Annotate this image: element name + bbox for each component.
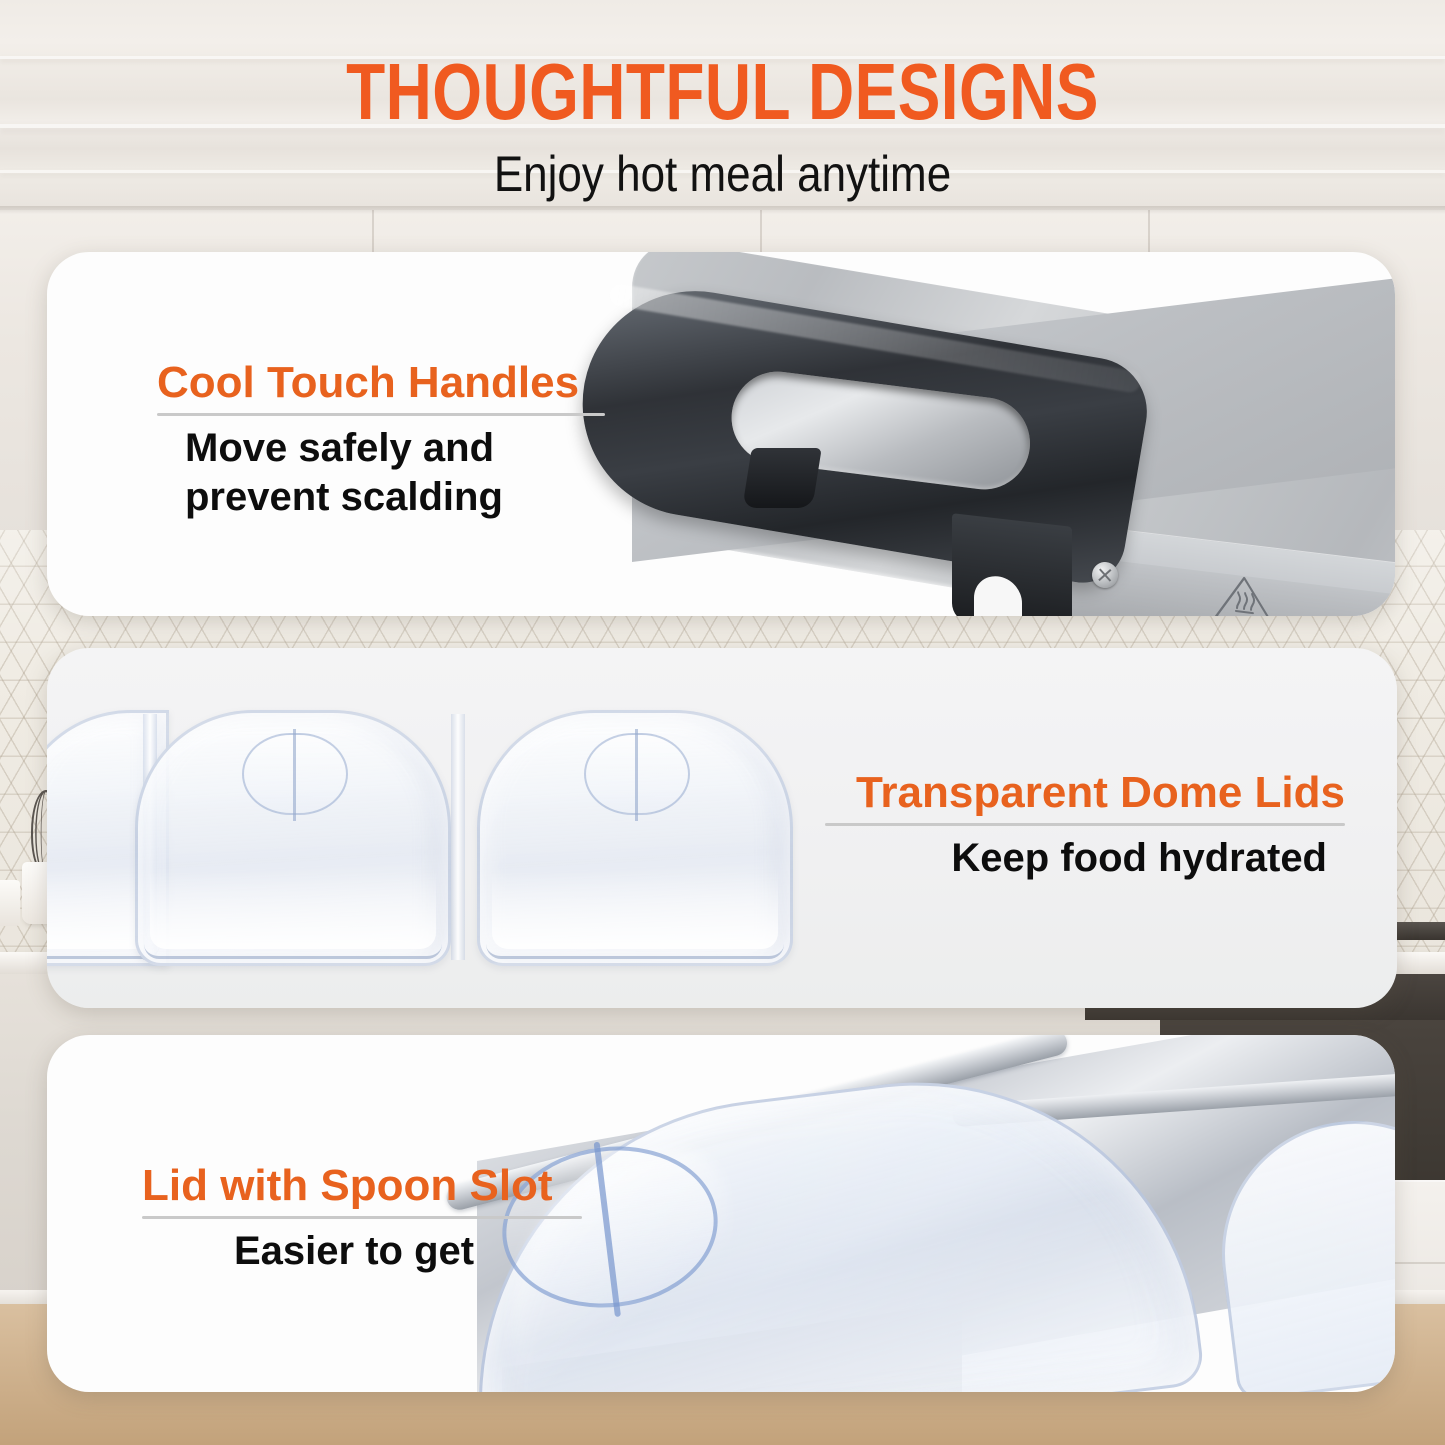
feature-panel-lid-with-spoon-slot[interactable]: Lid with Spoon Slot Easier to get	[47, 1035, 1395, 1392]
feature-panel-cool-touch-handles[interactable]: CAUTION:HOT SURFACE Cool Touch Handles M…	[47, 252, 1395, 616]
panel-1-divider	[157, 413, 605, 416]
dome-lid-center	[135, 710, 451, 966]
dome-lid-edge	[486, 944, 784, 959]
panel-3-text-block: Lid with Spoon Slot Easier to get	[142, 1163, 612, 1276]
panel-1-description-line2: prevent scalding	[157, 473, 627, 522]
dome-lid-grip	[242, 733, 348, 815]
dome-lid-seam	[451, 714, 465, 960]
cabinet-shadow	[0, 206, 1445, 214]
feature-panel-transparent-dome-lids[interactable]: Transparent Dome Lids Keep food hydrated	[47, 648, 1397, 1008]
panel-3-divider	[142, 1216, 582, 1219]
page-title: THOUGHTFUL DESIGNS	[145, 0, 1301, 132]
dome-lid-grip	[584, 733, 690, 815]
product-feature-infographic: THOUGHTFUL DESIGNS Enjoy hot meal anytim…	[0, 0, 1445, 1445]
header: THOUGHTFUL DESIGNS Enjoy hot meal anytim…	[0, 0, 1445, 201]
panel-3-description-line1: Easier to get	[142, 1227, 612, 1276]
panel-2-heading: Transparent Dome Lids	[805, 770, 1345, 816]
dome-lid-right	[477, 710, 793, 966]
panel-3-heading: Lid with Spoon Slot	[142, 1163, 612, 1209]
handle-bracket-left	[742, 448, 822, 508]
panel-2-text-block: Transparent Dome Lids Keep food hydrated	[805, 770, 1345, 883]
panel-2-description-line1: Keep food hydrated	[805, 834, 1345, 883]
panel-1-heading: Cool Touch Handles	[157, 360, 627, 406]
panel-1-text-block: Cool Touch Handles Move safely and preve…	[157, 360, 627, 522]
page-subtitle: Enjoy hot meal anytime	[87, 132, 1359, 201]
dome-lid-edge	[144, 944, 442, 959]
hot-surface-warning-icon	[1213, 570, 1275, 616]
handle-bracket-right	[952, 513, 1072, 616]
utensil-jar-secondary	[0, 880, 20, 926]
panel-1-description-line1: Move safely and	[157, 424, 627, 473]
panel-2-divider	[825, 823, 1345, 826]
